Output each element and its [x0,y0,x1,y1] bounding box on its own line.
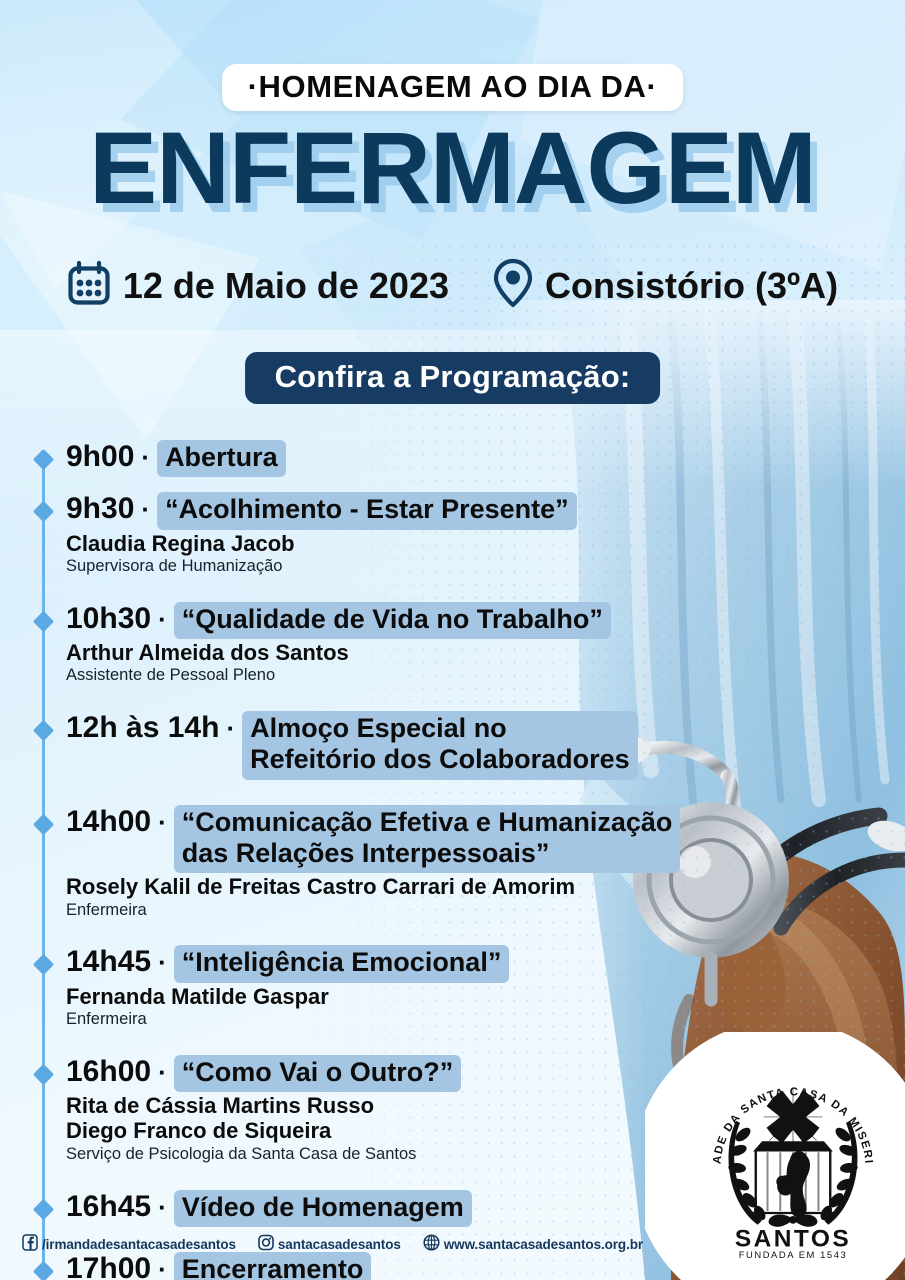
kicker-banner: ·HOMENAGEM AO DIA DA· [222,64,684,111]
schedule-speaker: Rita de Cássia Martins Russo Diego Franc… [66,1093,736,1144]
instagram-icon [258,1234,274,1256]
schedule-time: 9h00 [66,441,134,473]
timeline-marker-icon [33,954,54,975]
schedule-role: Supervisora de Humanização [66,557,736,577]
schedule-separator: · [226,715,235,741]
schedule-topic: “Acolhimento - Estar Presente” [157,492,577,529]
schedule-topic: Abertura [157,440,286,477]
logo-artwork: IRMANDADE DA SANTA CASA DA MISERICÓRDIA [695,1066,891,1262]
schedule-item: 9h30 · “Acolhimento - Estar Presente” Cl… [36,492,736,576]
schedule-separator: · [158,606,167,632]
schedule-speaker: Rosely Kalil de Freitas Castro Carrari d… [66,874,736,899]
timeline-marker-icon [33,1064,54,1085]
schedule-separator: · [158,809,167,835]
schedule-item: 17h00 · Encerramento [36,1252,736,1280]
location-pin-icon [493,258,533,313]
schedule-time: 16h45 [66,1191,151,1223]
footer-instagram-text: santacasadesantos [278,1238,401,1252]
schedule-topic: Encerramento [174,1252,372,1280]
schedule-item: 16h00 · “Como Vai o Outro?” Rita de Cáss… [36,1055,736,1165]
footer-website[interactable]: www.santacasadesantos.org.br [423,1234,643,1256]
timeline-marker-icon [33,501,54,522]
schedule-time: 16h00 [66,1056,151,1088]
programacao-badge-label: Confira a Programação: [275,359,631,394]
schedule-role: Enfermeira [66,901,736,921]
schedule-topic: Almoço Especial no Refeitório dos Colabo… [242,711,638,780]
schedule-separator: · [141,496,150,522]
schedule-topic: “Como Vai o Outro?” [174,1055,462,1092]
schedule-role: Enfermeira [66,1010,736,1030]
schedule-time: 12h às 14h [66,712,219,744]
schedule-item: 12h às 14h · Almoço Especial no Refeitór… [36,711,736,780]
event-location-text: Consistório (3ºA) [545,268,838,304]
programacao-badge: Confira a Programação: [245,352,661,404]
schedule-separator: · [141,444,150,470]
schedule-separator: · [158,1256,167,1280]
footer-website-text: www.santacasadesantos.org.br [444,1238,643,1252]
event-date-text: 12 de Maio de 2023 [123,268,449,304]
calendar-icon [67,260,111,311]
facebook-icon [22,1234,38,1256]
timeline-marker-icon [33,814,54,835]
schedule-separator: · [158,1194,167,1220]
schedule-speaker: Fernanda Matilde Gaspar [66,984,736,1009]
poster-canvas: ·HOMENAGEM AO DIA DA· ENFERMAGEM 12 de M… [0,0,905,1280]
schedule-separator: · [158,1059,167,1085]
timeline-marker-icon [33,1261,54,1280]
footer-social-bar: /irmandadesantacasadesantos santacasades… [0,1234,905,1256]
schedule-item: 16h45 · Vídeo de Homenagem [36,1190,736,1227]
schedule-topic: “Inteligência Emocional” [174,945,510,982]
schedule-time: 9h30 [66,493,134,525]
footer-facebook-text: /irmandadesantacasadesantos [42,1238,236,1252]
schedule-separator: · [158,949,167,975]
schedule-item: 14h00 · “Comunicação Efetiva e Humanizaç… [36,805,736,921]
schedule-role: Serviço de Psicologia da Santa Casa de S… [66,1145,736,1165]
schedule-time: 14h45 [66,946,151,978]
schedule-role: Assistente de Pessoal Pleno [66,666,736,686]
schedule-topic: Vídeo de Homenagem [174,1190,472,1227]
schedule-speaker: Arthur Almeida dos Santos [66,640,736,665]
event-location: Consistório (3ºA) [493,258,838,313]
event-meta: 12 de Maio de 2023 Consistório (3ºA) [0,258,905,313]
schedule-item: 9h00 · Abertura [36,440,736,477]
schedule-time: 10h30 [66,603,151,635]
timeline-marker-icon [33,720,54,741]
footer-facebook[interactable]: /irmandadesantacasadesantos [22,1234,236,1256]
timeline-marker-icon [33,611,54,632]
schedule-item: 14h45 · “Inteligência Emocional” Fernand… [36,945,736,1029]
schedule-list: 9h00 · Abertura 9h30 · “Acolhimento - Es… [36,440,736,1280]
footer-instagram[interactable]: santacasadesantos [258,1234,401,1256]
schedule-topic: “Qualidade de Vida no Trabalho” [174,602,611,639]
kicker-text: ·HOMENAGEM AO DIA DA· [248,69,658,104]
globe-icon [423,1234,440,1256]
timeline-marker-icon [33,1198,54,1219]
schedule-item: 10h30 · “Qualidade de Vida no Trabalho” … [36,602,736,686]
event-date: 12 de Maio de 2023 [67,260,449,311]
schedule-topic: “Comunicação Efetiva e Humanização das R… [174,805,681,874]
schedule-time: 14h00 [66,806,151,838]
page-title: ENFERMAGEM [0,122,905,216]
schedule-speaker: Claudia Regina Jacob [66,531,736,556]
timeline-marker-icon [33,449,54,470]
schedule-time: 17h00 [66,1253,151,1280]
